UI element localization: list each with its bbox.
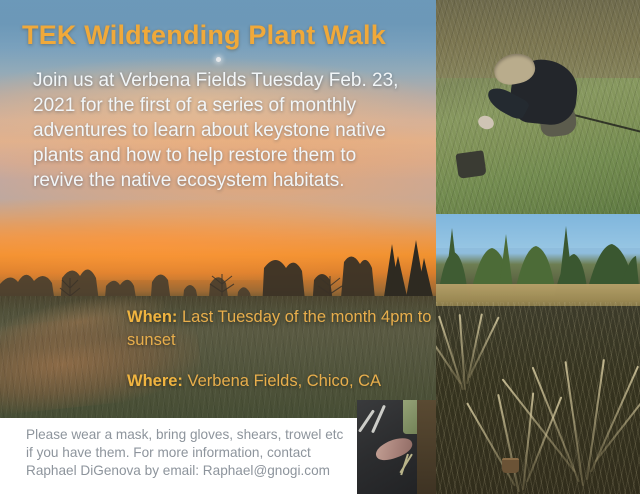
photo-column [436, 0, 640, 494]
when-label: When: [127, 308, 177, 326]
instructions-text: Please wear a mask, bring gloves, shears… [0, 418, 357, 481]
person-planting-photo [436, 0, 640, 214]
plant-pot [502, 458, 519, 473]
page-title: TEK Wildtending Plant Walk [22, 20, 386, 51]
bunchgrass-meadow-photo [436, 214, 640, 494]
where-label: Where: [127, 372, 183, 390]
where-detail: Where: Verbena Fields, Chico, CA [127, 370, 437, 393]
grass-texture [436, 302, 640, 494]
when-detail: When: Last Tuesday of the month 4pm to s… [127, 306, 437, 353]
where-value: Verbena Fields, Chico, CA [188, 372, 382, 390]
event-flyer: TEK Wildtending Plant Walk Join us at Ve… [0, 0, 640, 494]
event-description: Join us at Verbena Fields Tuesday Feb. 2… [33, 68, 403, 193]
plant-pot [455, 150, 486, 179]
soil-edge [417, 400, 436, 494]
gloved-hand-root-photo [357, 400, 436, 494]
instructions-box: Please wear a mask, bring gloves, shears… [0, 418, 357, 494]
